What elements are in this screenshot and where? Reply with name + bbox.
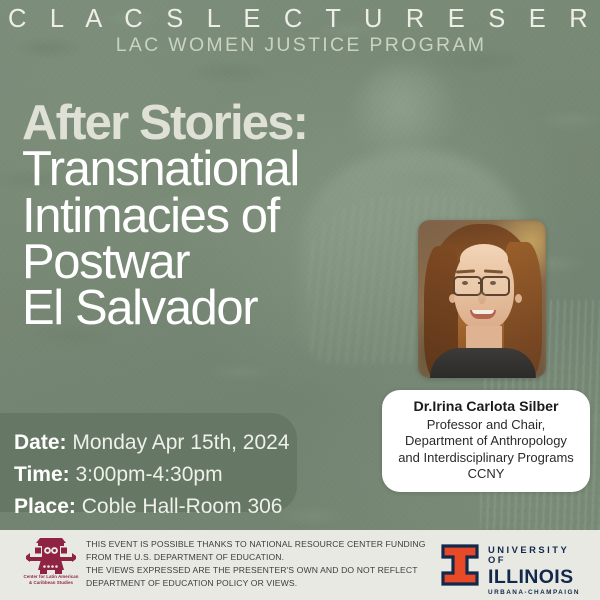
title-line-2: Transnational [22, 146, 442, 192]
speaker-role-line-1: Professor and Chair, [389, 417, 583, 433]
title-line-3: Intimacies of [22, 193, 442, 239]
title-line-1: After Stories: [22, 100, 442, 146]
shoulders [430, 348, 536, 378]
speaker-role-line-3: and Interdisciplinary Programs [389, 450, 583, 466]
speaker-photo [418, 220, 546, 378]
clacs-logo: Center for Latin American & Caribbean St… [18, 534, 84, 596]
disclaimer-line-2: FROM THE U.S. DEPARTMENT OF EDUCATION. [86, 551, 436, 564]
ear-right [515, 294, 522, 303]
illinois-block-i-icon [440, 544, 480, 586]
speaker-name: Dr.Irina Carlota Silber [389, 399, 583, 417]
illinois-wordmark: UNIVERSITY OF ILLINOIS URBANA-CHAMPAIGN [488, 545, 588, 596]
event-details-panel: Date: Monday Apr 15th, 2024 Time: 3:00pm… [0, 413, 297, 512]
time-label: Time: [14, 463, 70, 486]
event-time-row: Time: 3:00pm-4:30pm [14, 459, 290, 491]
disclaimer-line-4: DEPARTMENT OF EDUCATION POLICY OR VIEWS. [86, 577, 436, 590]
date-value: Monday Apr 15th, 2024 [72, 431, 289, 454]
event-poster: C L A C S L E C T U R E S E R I E S LAC … [0, 0, 600, 600]
disclaimer-line-1: THIS EVENT IS POSSIBLE THANKS TO NATIONA… [86, 538, 436, 551]
date-label: Date: [14, 431, 67, 454]
poster-header: C L A C S L E C T U R E S E R I E S LAC … [0, 6, 600, 55]
speaker-role-line-2: Department of Anthropology [389, 433, 583, 449]
university-of-illinois-logo: UNIVERSITY OF ILLINOIS URBANA-CHAMPAIGN [440, 542, 588, 588]
title-line-5: El Salvador [22, 285, 442, 331]
place-label: Place: [14, 495, 76, 518]
speaker-info-card: Dr.Irina Carlota Silber Professor and Ch… [382, 390, 590, 492]
teeth [472, 310, 494, 314]
clacs-caption: Center for Latin American & Caribbean St… [18, 574, 84, 587]
clacs-figure-icon [18, 534, 84, 578]
eyeglasses-bridge [478, 282, 483, 284]
university-line-3: URBANA-CHAMPAIGN [488, 589, 588, 596]
title-line-4: Postwar [22, 239, 442, 285]
program-subtitle: LAC WOMEN JUSTICE PROGRAM [0, 35, 600, 55]
clacs-caption-line-2: & Caribbean Studies [18, 580, 84, 586]
time-value: 3:00pm-4:30pm [75, 463, 222, 486]
event-place-row: Place: Coble Hall-Room 306 [14, 491, 290, 523]
speaker-affiliation: CCNY [389, 466, 583, 482]
funding-disclaimer: THIS EVENT IS POSSIBLE THANKS TO NATIONA… [86, 538, 436, 591]
event-date-row: Date: Monday Apr 15th, 2024 [14, 427, 290, 459]
place-value: Coble Hall-Room 306 [82, 495, 283, 518]
nose [478, 290, 486, 304]
university-line-1: UNIVERSITY OF [488, 545, 588, 566]
poster-footer: Center for Latin American & Caribbean St… [0, 530, 600, 600]
series-title: C L A C S L E C T U R E S E R I E S [0, 6, 600, 33]
lecture-title: After Stories: Transnational Intimacies … [22, 100, 442, 331]
disclaimer-line-3: THE VIEWS EXPRESSED ARE THE PRESENTER'S … [86, 564, 436, 577]
university-line-2: ILLINOIS [488, 567, 588, 588]
